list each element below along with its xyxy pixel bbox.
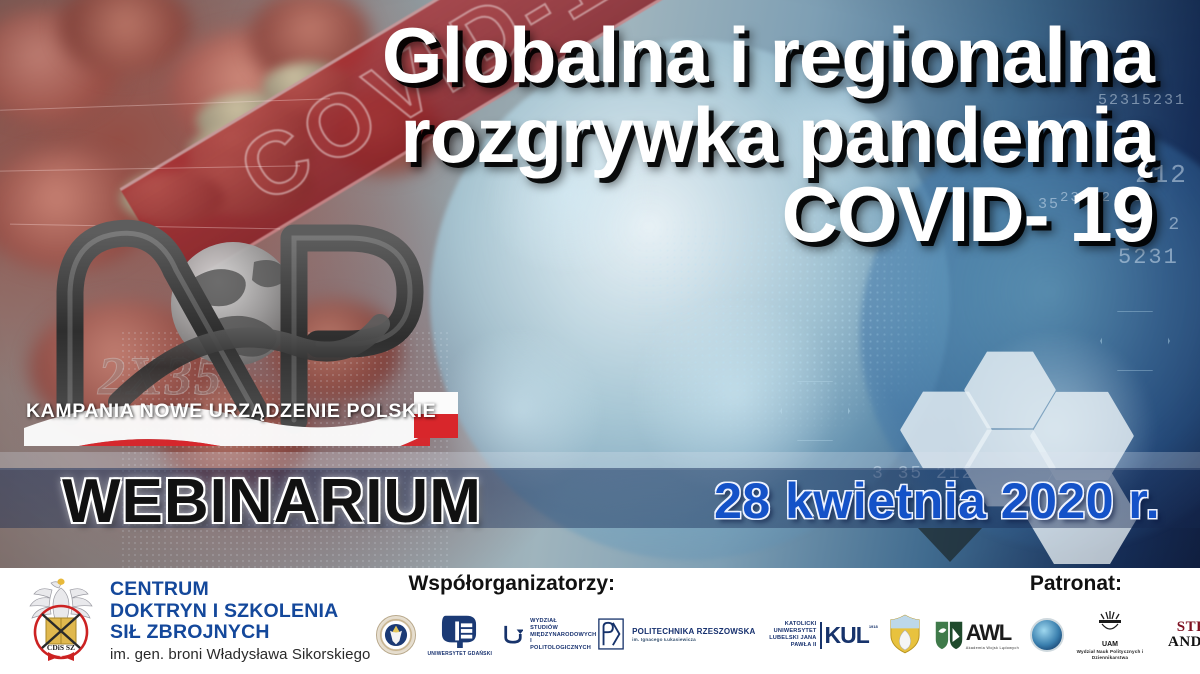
organizer-text: CENTRUM DOKTRYN I SZKOLENIA SIŁ ZBROJNYC… <box>110 579 370 663</box>
amw-globe-icon <box>1030 618 1064 652</box>
kul-wordmark: KUL <box>825 622 869 649</box>
saf-line-2: AND FUTURE <box>1168 635 1200 650</box>
webinar-poster: 52315231 212 23 12 35 35 12 2 5231 3 35 … <box>0 0 1200 674</box>
campaign-logo-caption: KAMPANIA NOWE URZĄDZENIE POLSKIE <box>26 400 436 423</box>
patronage-label: Patronat: <box>1030 572 1122 596</box>
partner-logo-row: UNIWERSYTET GDAŃSKI WYDZIAŁ STUDIÓW MIĘD… <box>370 602 1200 668</box>
organizer-line-3: SIŁ ZBROJNYCH <box>110 622 370 644</box>
partner-logo-asz <box>889 614 923 656</box>
partner-logo-amw <box>1030 618 1064 652</box>
awl-wordmark: AWL <box>966 620 1019 646</box>
prz-emblem-icon <box>597 617 627 653</box>
title-line-3: COVID- 19 <box>382 175 1154 255</box>
event-type-label: WEBINARIUM <box>62 466 482 537</box>
partner-logo-kul: KATOLICKI UNIWERSYTET LUBELSKI JANA PAWŁ… <box>767 621 878 648</box>
coorganizers-label: Współorganizatorzy: <box>408 572 615 596</box>
kul-year: 1918 <box>869 624 878 629</box>
organizer-block: CDiS SZ CENTRUM DOKTRYN I SZKOLENIA SIŁ … <box>0 578 370 664</box>
uam-sublabel: Wydział Nauk Politycznych i Dziennikarst… <box>1075 649 1145 660</box>
asz-shield-icon <box>889 614 923 656</box>
awl-sublabel: Akademia Wojsk Lądowych <box>966 646 1019 650</box>
svg-text:CDiS SZ: CDiS SZ <box>47 643 75 652</box>
kul-label: KATOLICKI UNIWERSYTET LUBELSKI JANA PAWŁ… <box>767 621 817 648</box>
uam-crest-icon <box>1095 610 1125 640</box>
partner-logo-strategy-and-future: STRATEGY AND FUTURE <box>1168 620 1200 650</box>
wat-emblem-icon <box>376 615 416 655</box>
footer-bar: CDiS SZ CENTRUM DOKTRYN I SZKOLENIA SIŁ … <box>0 568 1200 674</box>
organizer-subtitle: im. gen. broni Władysława Sikorskiego <box>110 646 370 663</box>
cdis-crest-icon: CDiS SZ <box>24 578 98 664</box>
awl-emblem-icon <box>934 618 964 652</box>
lodz-label: WYDZIAŁ STUDIÓW MIĘDZYNARODOWYCH I POLIT… <box>530 618 586 652</box>
partner-logo-wat <box>376 615 416 655</box>
ug-label: UNIWERSYTET GDAŃSKI <box>427 651 492 657</box>
title-line-1: Globalna i regionalna <box>382 16 1154 96</box>
organizer-line-2: DOKTRYN I SZKOLENIA <box>110 601 370 623</box>
partner-logo-awl: AWL Akademia Wojsk Lądowych <box>934 618 1019 652</box>
partner-logo-uam: UAM Wydział Nauk Politycznych i Dziennik… <box>1075 610 1145 660</box>
saf-line-1: STRATEGY <box>1168 620 1200 635</box>
prz-label: POLITECHNIKA RZESZOWSKA <box>632 627 755 637</box>
partners-block: Współorganizatorzy: Patronat: <box>370 568 1200 674</box>
prz-sublabel: im. Ignacego Łukasiewicza <box>632 637 755 643</box>
event-date: 28 kwietnia 2020 r. <box>714 472 1160 530</box>
title-line-2: rozgrywka pandemią <box>382 96 1154 176</box>
uam-wordmark: UAM <box>1102 641 1118 648</box>
ug-emblem-icon <box>440 612 480 650</box>
organizer-line-1: CENTRUM <box>110 579 370 601</box>
page-title: Globalna i regionalna rozgrywka pandemią… <box>382 16 1154 255</box>
lodz-emblem-icon <box>503 623 525 647</box>
partner-logo-uni-lodz: WYDZIAŁ STUDIÓW MIĘDZYNARODOWYCH I POLIT… <box>503 618 586 652</box>
partner-logo-ug: UNIWERSYTET GDAŃSKI <box>427 612 492 657</box>
partner-logo-prz: POLITECHNIKA RZESZOWSKA im. Ignacego Łuk… <box>597 617 755 653</box>
